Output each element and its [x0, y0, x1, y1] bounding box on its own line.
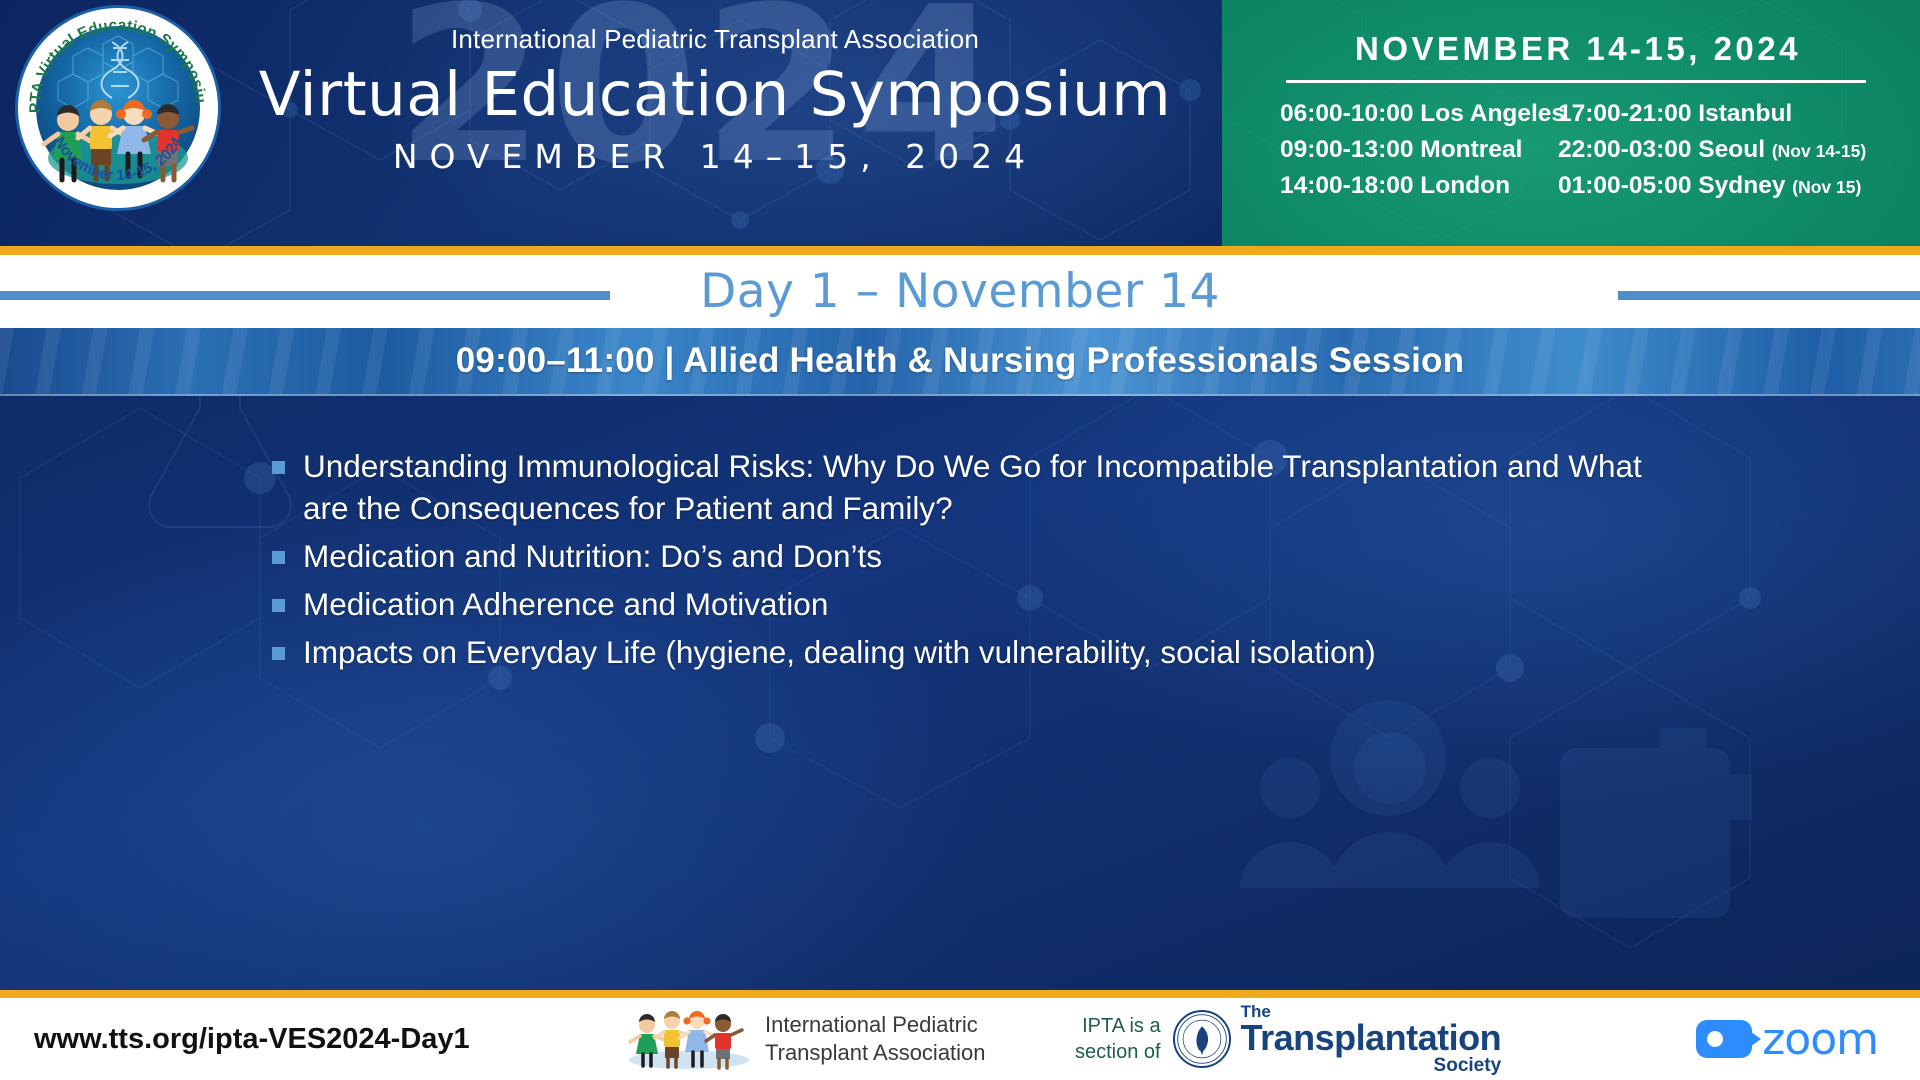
tts-main: Transplantation	[1241, 1020, 1502, 1056]
list-item: Impacts on Everyday Life (hygiene, deali…	[272, 632, 1672, 674]
header-left-panel: 2024	[0, 0, 1222, 246]
symposium-slide: 2024	[0, 0, 1920, 1080]
tts-seal-icon	[1173, 1010, 1231, 1068]
list-item: Medication and Nutrition: Do’s and Don’t…	[272, 536, 1672, 578]
bullet-label: Medication Adherence and Motivation	[303, 584, 828, 626]
day-rule-left	[0, 291, 610, 300]
symposium-dates: NOVEMBER 14–15, 2024	[215, 137, 1215, 176]
session-title: 09:00–11:00 | Allied Health & Nursing Pr…	[456, 341, 1464, 381]
ipta-name-line1: International Pediatric	[765, 1011, 986, 1039]
bullet-label: Impacts on Everyday Life (hygiene, deali…	[303, 632, 1376, 674]
zoom-logo: zoom	[1696, 1014, 1878, 1065]
gold-divider-bottom	[0, 990, 1920, 998]
event-url[interactable]: www.tts.org/ipta-VES2024-Day1	[34, 1023, 470, 1056]
association-name: International Pediatric Transplant Assoc…	[215, 24, 1215, 55]
ipta-name-line2: Transplant Association	[765, 1039, 986, 1067]
slide-header: 2024	[0, 0, 1920, 246]
transplantation-society-logo: The Transplantation Society	[1173, 1003, 1502, 1075]
ipta-symposium-logo: IPTA Virtual Education Symposium Novembe…	[18, 8, 218, 208]
ipta-kids-icon	[625, 1008, 753, 1070]
day-banner: Day 1 – November 14	[0, 255, 1920, 328]
tts-society: Society	[1241, 1056, 1502, 1075]
section-of-block: IPTA is a section of The Transplantation…	[1075, 1003, 1501, 1075]
zoom-wordmark: zoom	[1762, 1014, 1878, 1065]
square-bullet-icon	[272, 647, 285, 660]
session-body: 09:00–11:00 | Allied Health & Nursing Pr…	[0, 328, 1920, 990]
timezone-panel: NOVEMBER 14-15, 2024 06:00-10:00 Los Ang…	[1222, 0, 1920, 246]
bullet-label: Understanding Immunological Risks: Why D…	[303, 446, 1672, 530]
list-item: Understanding Immunological Risks: Why D…	[272, 446, 1672, 530]
ipta-footer-logo: International Pediatric Transplant Assoc…	[625, 1008, 986, 1070]
symposium-title: Virtual Education Symposium	[215, 61, 1215, 129]
slide-footer: www.tts.org/ipta-VES2024-Day1	[0, 998, 1920, 1080]
section-line2: section of	[1075, 1039, 1161, 1065]
bullet-label: Medication and Nutrition: Do’s and Don’t…	[303, 536, 882, 578]
day-rule-right	[1618, 291, 1920, 300]
section-of-label: IPTA is a section of	[1075, 1013, 1161, 1065]
video-camera-icon	[1696, 1020, 1752, 1058]
day-label: Day 1 – November 14	[700, 264, 1220, 319]
section-line1: IPTA is a	[1075, 1013, 1161, 1039]
session-bullet-list: Understanding Immunological Risks: Why D…	[272, 446, 1672, 679]
square-bullet-icon	[272, 551, 285, 564]
square-bullet-icon	[272, 599, 285, 612]
green-network-background	[1222, 0, 1920, 246]
session-title-bar: 09:00–11:00 | Allied Health & Nursing Pr…	[0, 328, 1920, 396]
logo-badge-svg: IPTA Virtual Education Symposium Novembe…	[18, 8, 218, 208]
header-title-block: International Pediatric Transplant Assoc…	[215, 24, 1215, 176]
ipta-footer-name: International Pediatric Transplant Assoc…	[765, 1011, 986, 1067]
list-item: Medication Adherence and Motivation	[272, 584, 1672, 626]
square-bullet-icon	[272, 461, 285, 474]
gold-divider-top	[0, 246, 1920, 255]
tts-wordmark: The Transplantation Society	[1241, 1003, 1502, 1075]
